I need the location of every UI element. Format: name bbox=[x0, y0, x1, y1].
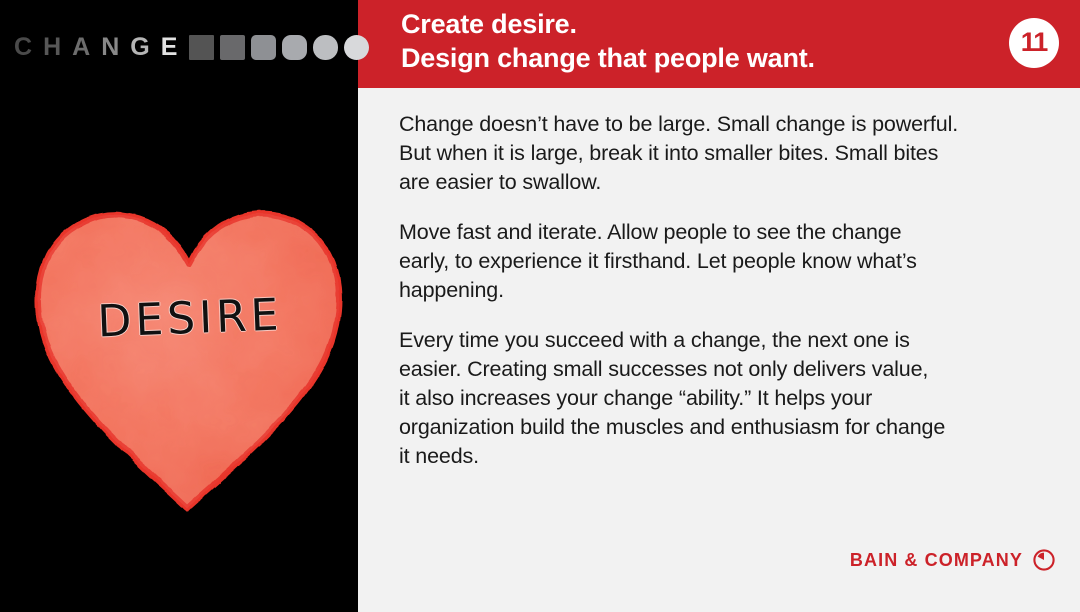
bain-wordmark: BAIN & COMPANY bbox=[850, 551, 1023, 569]
page-title: Create desire. Design change that people… bbox=[401, 7, 815, 75]
slide-number-badge: 11 bbox=[1009, 18, 1059, 68]
change-shape-3 bbox=[251, 35, 276, 60]
body-paragraph-3: Every time you succeed with a change, th… bbox=[399, 326, 1039, 471]
body-paragraph-1: Change doesn’t have to be large. Small c… bbox=[399, 110, 1039, 197]
change-letter-e: E bbox=[161, 35, 178, 60]
body-paragraph-2: Move fast and iterate. Allow people to s… bbox=[399, 218, 1039, 305]
change-letter-c: C bbox=[14, 35, 32, 60]
slide-number-value: 11 bbox=[1021, 29, 1048, 56]
body-text-block: Change doesn’t have to be large. Small c… bbox=[399, 110, 1039, 471]
change-shape-5 bbox=[313, 35, 338, 60]
bain-company-logo: BAIN & COMPANY bbox=[850, 548, 1056, 572]
heart-illustration: DESIRE bbox=[24, 178, 354, 523]
change-letter-g: G bbox=[130, 35, 149, 60]
desire-handwritten-label: DESIRE bbox=[69, 292, 311, 345]
change-shape-progression bbox=[189, 35, 375, 60]
change-shape-6 bbox=[344, 35, 369, 60]
bain-circle-wedge-icon bbox=[1032, 548, 1056, 572]
change-letter-n: N bbox=[101, 35, 119, 60]
change-brand-logo: CHANGE bbox=[14, 30, 375, 64]
change-shape-1 bbox=[189, 35, 214, 60]
change-shape-4 bbox=[282, 35, 307, 60]
change-shape-2 bbox=[220, 35, 245, 60]
change-letter-a: A bbox=[72, 35, 90, 60]
slide-header-bar: Create desire. Design change that people… bbox=[358, 0, 1080, 88]
change-letter-h: H bbox=[43, 35, 61, 60]
heart-icon bbox=[24, 178, 354, 523]
change-wordmark: CHANGE bbox=[14, 35, 188, 60]
slide-canvas: Create desire. Design change that people… bbox=[0, 0, 1080, 612]
